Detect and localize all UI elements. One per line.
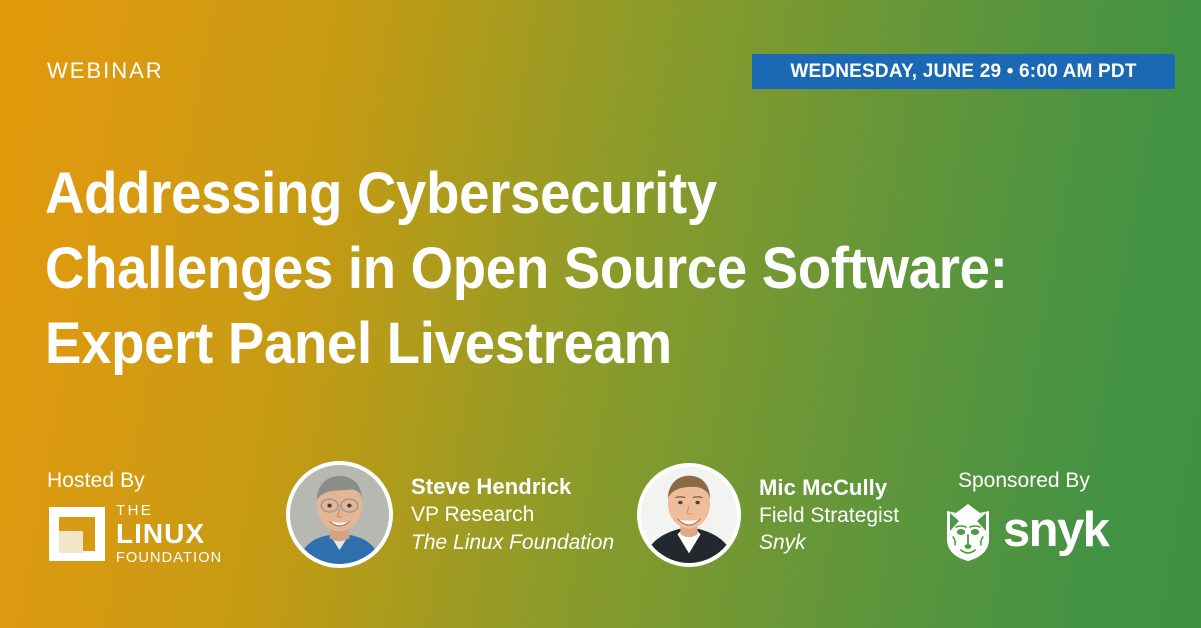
linux-foundation-mark-icon xyxy=(47,505,107,563)
speaker-name: Mic McCully xyxy=(759,474,899,502)
title-line-3: Expert Panel Livestream xyxy=(45,306,1098,381)
speaker-org: The Linux Foundation xyxy=(411,529,614,556)
linux-foundation-wordmark: THE LINUX FOUNDATION xyxy=(116,503,222,566)
speaker-role: VP Research xyxy=(411,501,614,528)
date-badge: WEDNESDAY, JUNE 29 • 6:00 AM PDT xyxy=(752,54,1175,89)
speaker-card: Steve Hendrick VP Research The Linux Fou… xyxy=(286,461,614,568)
sponsored-by-label: Sponsored By xyxy=(958,469,1160,493)
speaker-name: Steve Hendrick xyxy=(411,473,614,501)
speaker-info: Mic McCully Field Strategist Snyk xyxy=(759,474,899,557)
speaker-role: Field Strategist xyxy=(759,502,899,529)
speaker-info: Steve Hendrick VP Research The Linux Fou… xyxy=(411,473,614,556)
page-title: Addressing Cybersecurity Challenges in O… xyxy=(45,156,1098,381)
hosted-by-block: Hosted By THE LINUX FOUNDATION xyxy=(47,469,262,566)
lf-linux-text: LINUX xyxy=(116,520,222,548)
avatar xyxy=(637,463,741,567)
lf-the-text: THE xyxy=(116,503,222,518)
bottom-strip: Hosted By THE LINUX FOUNDATION xyxy=(0,455,1201,590)
steve-hendrick-headshot xyxy=(290,465,389,564)
title-line-2: Challenges in Open Source Software: xyxy=(45,231,1098,306)
snyk-logo: snyk xyxy=(940,501,1160,563)
title-line-1: Addressing Cybersecurity xyxy=(45,156,1098,231)
avatar xyxy=(286,461,393,568)
speaker-card: Mic McCully Field Strategist Snyk xyxy=(637,463,899,567)
speaker-org: Snyk xyxy=(759,529,899,556)
hosted-by-label: Hosted By xyxy=(47,469,262,493)
lf-foundation-text: FOUNDATION xyxy=(116,551,222,566)
mic-mccully-headshot xyxy=(641,467,737,563)
eyebrow-label: WEBINAR xyxy=(47,58,164,84)
sponsored-by-block: Sponsored By xyxy=(940,469,1160,563)
date-badge-text: WEDNESDAY, JUNE 29 • 6:00 AM PDT xyxy=(790,61,1136,83)
snyk-dog-icon xyxy=(940,501,996,563)
snyk-wordmark: snyk xyxy=(1003,506,1108,555)
linux-foundation-logo: THE LINUX FOUNDATION xyxy=(47,503,262,566)
